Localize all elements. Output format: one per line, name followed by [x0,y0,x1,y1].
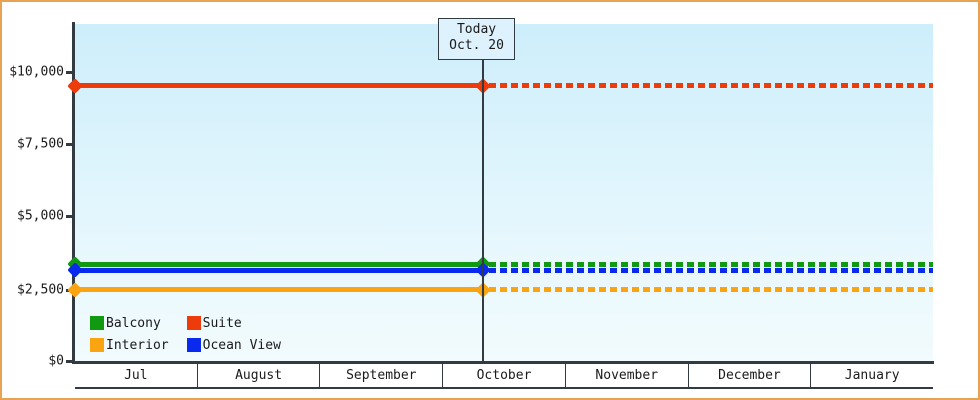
today-annotation-box: Today Oct. 20 [438,18,515,60]
legend-label-suite: Suite [203,316,242,331]
legend-swatch-suite [187,316,201,330]
today-annotation-line2: Oct. 20 [449,38,504,54]
month-cell-august[interactable]: August [198,364,321,387]
month-cell-jul[interactable]: Jul [75,364,198,387]
month-cell-november[interactable]: November [566,364,689,387]
series-line-interior-actual [75,287,483,292]
data-point-suite-start[interactable] [67,78,83,94]
today-annotation-line1: Today [449,22,504,38]
legend-swatch-interior [90,338,104,352]
series-line-suite-forecast [489,83,933,88]
series-line-balcony-actual [75,262,483,267]
series-line-balcony-forecast [489,262,933,267]
legend-swatch-balcony [90,316,104,330]
chart-legend: Balcony Suite Interior Ocean View [90,312,281,356]
series-line-ocean-view-actual [75,268,483,273]
legend-item-ocean-view[interactable]: Ocean View [187,338,281,353]
data-point-interior-start[interactable] [67,282,83,298]
legend-label-ocean-view: Ocean View [203,338,281,353]
legend-item-balcony[interactable]: Balcony [90,316,169,331]
month-cell-january[interactable]: January [811,364,933,387]
legend-item-interior[interactable]: Interior [90,338,169,353]
series-line-suite-actual [75,83,483,88]
today-vertical-line [482,24,484,362]
legend-label-interior: Interior [106,338,169,353]
legend-label-balcony: Balcony [106,316,161,331]
month-cell-october[interactable]: October [443,364,566,387]
chart-root: $10,000 $7,500 $5,000 $2,500 $0 Today Oc… [0,0,980,400]
legend-item-suite[interactable]: Suite [187,316,281,331]
month-cell-september[interactable]: September [320,364,443,387]
month-cell-december[interactable]: December [689,364,812,387]
series-line-interior-forecast [489,287,933,292]
legend-swatch-ocean-view [187,338,201,352]
series-line-ocean-view-forecast [489,268,933,273]
month-axis-table: Jul August September October November De… [75,364,933,389]
